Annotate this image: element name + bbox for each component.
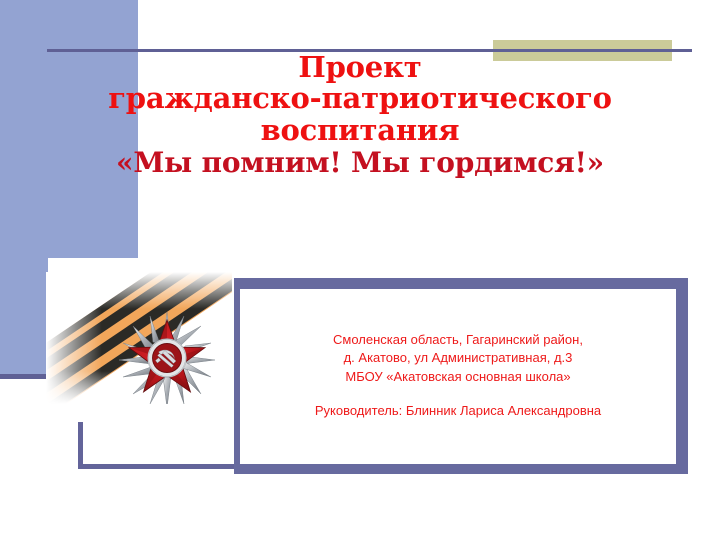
text-spacer xyxy=(240,386,676,402)
info-frame: Смоленская область, Гагаринский район, д… xyxy=(234,278,688,474)
title-line-1: Проект xyxy=(0,52,720,83)
slide-title: Проект гражданско-патриотического воспит… xyxy=(0,52,720,178)
title-line-4: «Мы помним! Мы гордимся!» xyxy=(0,148,720,178)
info-frame-inner: Смоленская область, Гагаринский район, д… xyxy=(240,289,676,464)
presentation-slide: Проект гражданско-патриотического воспит… xyxy=(0,0,720,540)
title-line-3: воспитания xyxy=(0,115,720,146)
medal-image xyxy=(46,272,232,404)
supervisor-line: Руководитель: Блинник Лариса Александров… xyxy=(240,402,676,420)
sidebar-bottom-rule xyxy=(0,374,48,379)
order-of-patriotic-war-icon xyxy=(46,272,232,404)
info-text-block: Смоленская область, Гагаринский район, д… xyxy=(240,331,676,421)
corner-bracket-vertical xyxy=(78,422,83,469)
address-line-2: д. Акатово, ул Административная, д.3 xyxy=(240,349,676,367)
sidebar-block-lower xyxy=(0,258,48,376)
corner-bracket-horizontal xyxy=(78,464,238,469)
address-line-3: МБОУ «Акатовская основная школа» xyxy=(240,368,676,386)
title-line-2: гражданско-патриотического xyxy=(0,83,720,114)
address-line-1: Смоленская область, Гагаринский район, xyxy=(240,331,676,349)
